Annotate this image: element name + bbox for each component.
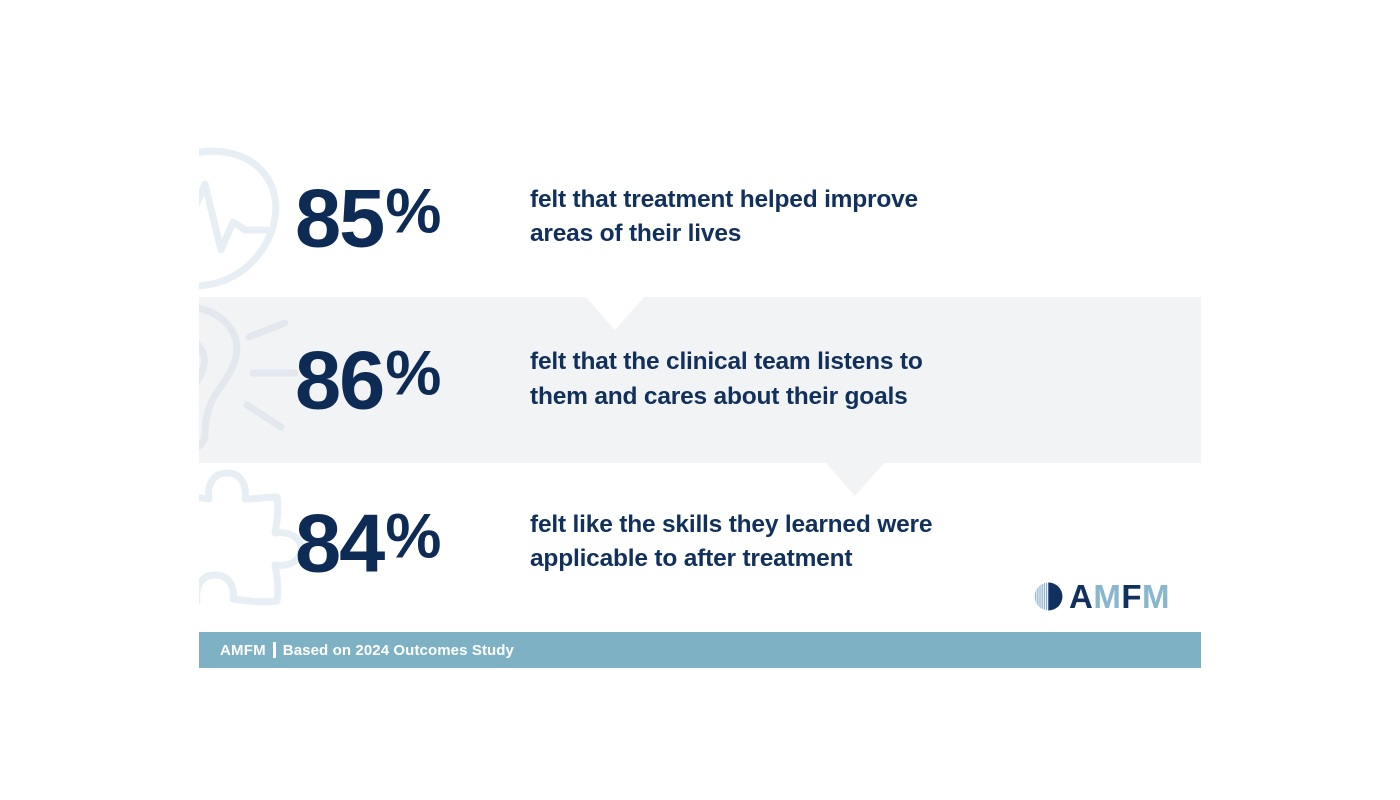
stat-description-line: felt like the skills they learned were	[530, 508, 1120, 543]
stat-number: 86	[295, 339, 383, 420]
footer-source-note: Based on 2024 Outcomes Study	[283, 642, 514, 659]
stat-description: felt like the skills they learned were a…	[530, 508, 1120, 578]
stat-description-line: applicable to after treatment	[530, 543, 1120, 578]
footer-brand: AMFM	[220, 642, 266, 659]
stat-description-line: areas of their lives	[530, 218, 1120, 253]
infographic-canvas: 85 % felt that treatment helped improve …	[0, 0, 1400, 800]
amfm-circle-mark	[1033, 581, 1064, 612]
amfm-wordmark: A M F M	[1069, 580, 1170, 613]
percent-sign: %	[385, 180, 440, 243]
stat-description-line: felt that the clinical team listens to	[530, 345, 1120, 380]
logo-letter-a1: A	[1069, 580, 1093, 613]
stat-number: 85	[295, 177, 383, 258]
stat-description-line: felt that treatment helped improve	[530, 183, 1120, 218]
stat-description: felt that treatment helped improve areas…	[530, 183, 1120, 253]
stat-number: 84	[295, 502, 383, 583]
percent-sign: %	[385, 342, 440, 405]
stat-description-line: them and cares about their goals	[530, 380, 1120, 415]
amfm-logo: A M F M	[1033, 578, 1170, 614]
percent-sign: %	[385, 505, 440, 568]
footer-banner: AMFM Based on 2024 Outcomes Study	[199, 632, 1201, 668]
logo-letter-f: F	[1121, 580, 1142, 613]
stat-figure: 84 %	[295, 502, 440, 583]
stat-figure: 85 %	[295, 177, 440, 258]
notch-bottom-divider	[826, 463, 884, 496]
footer-divider	[273, 642, 276, 658]
logo-letter-m2: M	[1142, 580, 1170, 613]
logo-letter-m1: M	[1093, 580, 1121, 613]
notch-top-divider	[586, 297, 644, 330]
stat-row: 86 % felt that the clinical team listens…	[199, 297, 1201, 463]
stat-row: 85 % felt that treatment helped improve …	[199, 140, 1201, 295]
stat-figure: 86 %	[295, 339, 440, 420]
stat-description: felt that the clinical team listens to t…	[530, 345, 1120, 415]
